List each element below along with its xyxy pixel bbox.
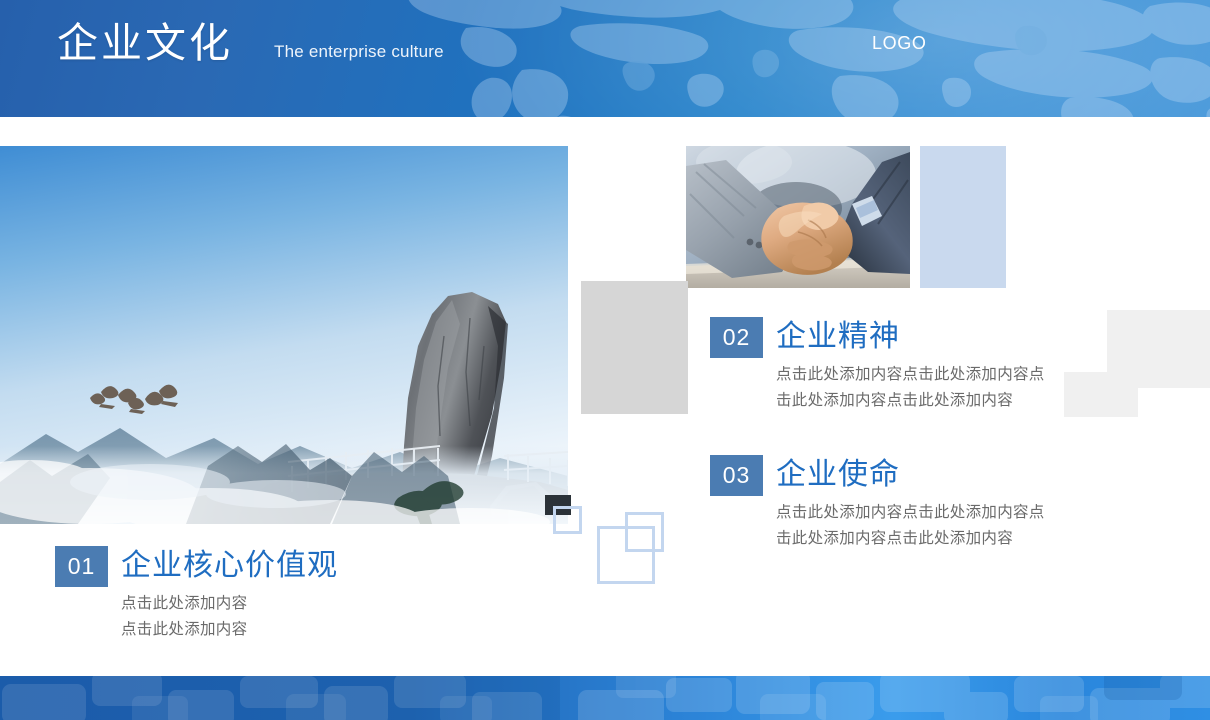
section-03-title: 企业使命 bbox=[776, 455, 900, 495]
section-03-body: 点击此处添加内容点击此处添加内容点击此处添加内容点击此处添加内容 bbox=[776, 500, 1051, 552]
section-02-number: 02 bbox=[710, 317, 763, 358]
section-01-title: 企业核心价值观 bbox=[121, 546, 338, 586]
section-03: 03 企业使命 点击此处添加内容点击此处添加内容点击此处添加内容点击此处添加内容 bbox=[710, 455, 1060, 552]
world-map-icon bbox=[370, 0, 1210, 117]
decor-block-gray bbox=[581, 281, 688, 414]
section-01-body: 点击此处添加内容 点击此处添加内容 bbox=[121, 591, 421, 643]
page-subtitle: The enterprise culture bbox=[274, 42, 444, 62]
section-01: 01 企业核心价值观 点击此处添加内容 点击此处添加内容 bbox=[55, 546, 475, 643]
footer-pattern bbox=[0, 676, 1210, 720]
slide-footer bbox=[0, 676, 1210, 720]
section-03-number: 03 bbox=[710, 455, 763, 496]
decor-block-blue bbox=[920, 146, 1006, 288]
section-01-number: 01 bbox=[55, 546, 108, 587]
decor-block-light-gray-2 bbox=[1064, 372, 1138, 417]
decor-outline-square-small bbox=[553, 506, 582, 534]
logo: LOGO bbox=[872, 33, 926, 54]
page-title: 企业文化 bbox=[57, 23, 233, 64]
section-01-heading: 01 企业核心价值观 bbox=[55, 546, 475, 587]
slide-header: 企业文化 The enterprise culture LOGO bbox=[0, 0, 1210, 117]
section-02-title: 企业精神 bbox=[776, 317, 900, 357]
section-02-body: 点击此处添加内容点击此处添加内容点击此处添加内容点击此处添加内容 bbox=[776, 362, 1051, 414]
business-handshake-photo bbox=[686, 146, 910, 288]
mountain-peak-sea-of-clouds-photo bbox=[0, 146, 568, 524]
section-02-heading: 02 企业精神 bbox=[710, 317, 1060, 358]
section-02: 02 企业精神 点击此处添加内容点击此处添加内容点击此处添加内容点击此处添加内容 bbox=[710, 317, 1060, 414]
section-03-heading: 03 企业使命 bbox=[710, 455, 1060, 496]
decor-outline-square-medium bbox=[625, 512, 664, 552]
